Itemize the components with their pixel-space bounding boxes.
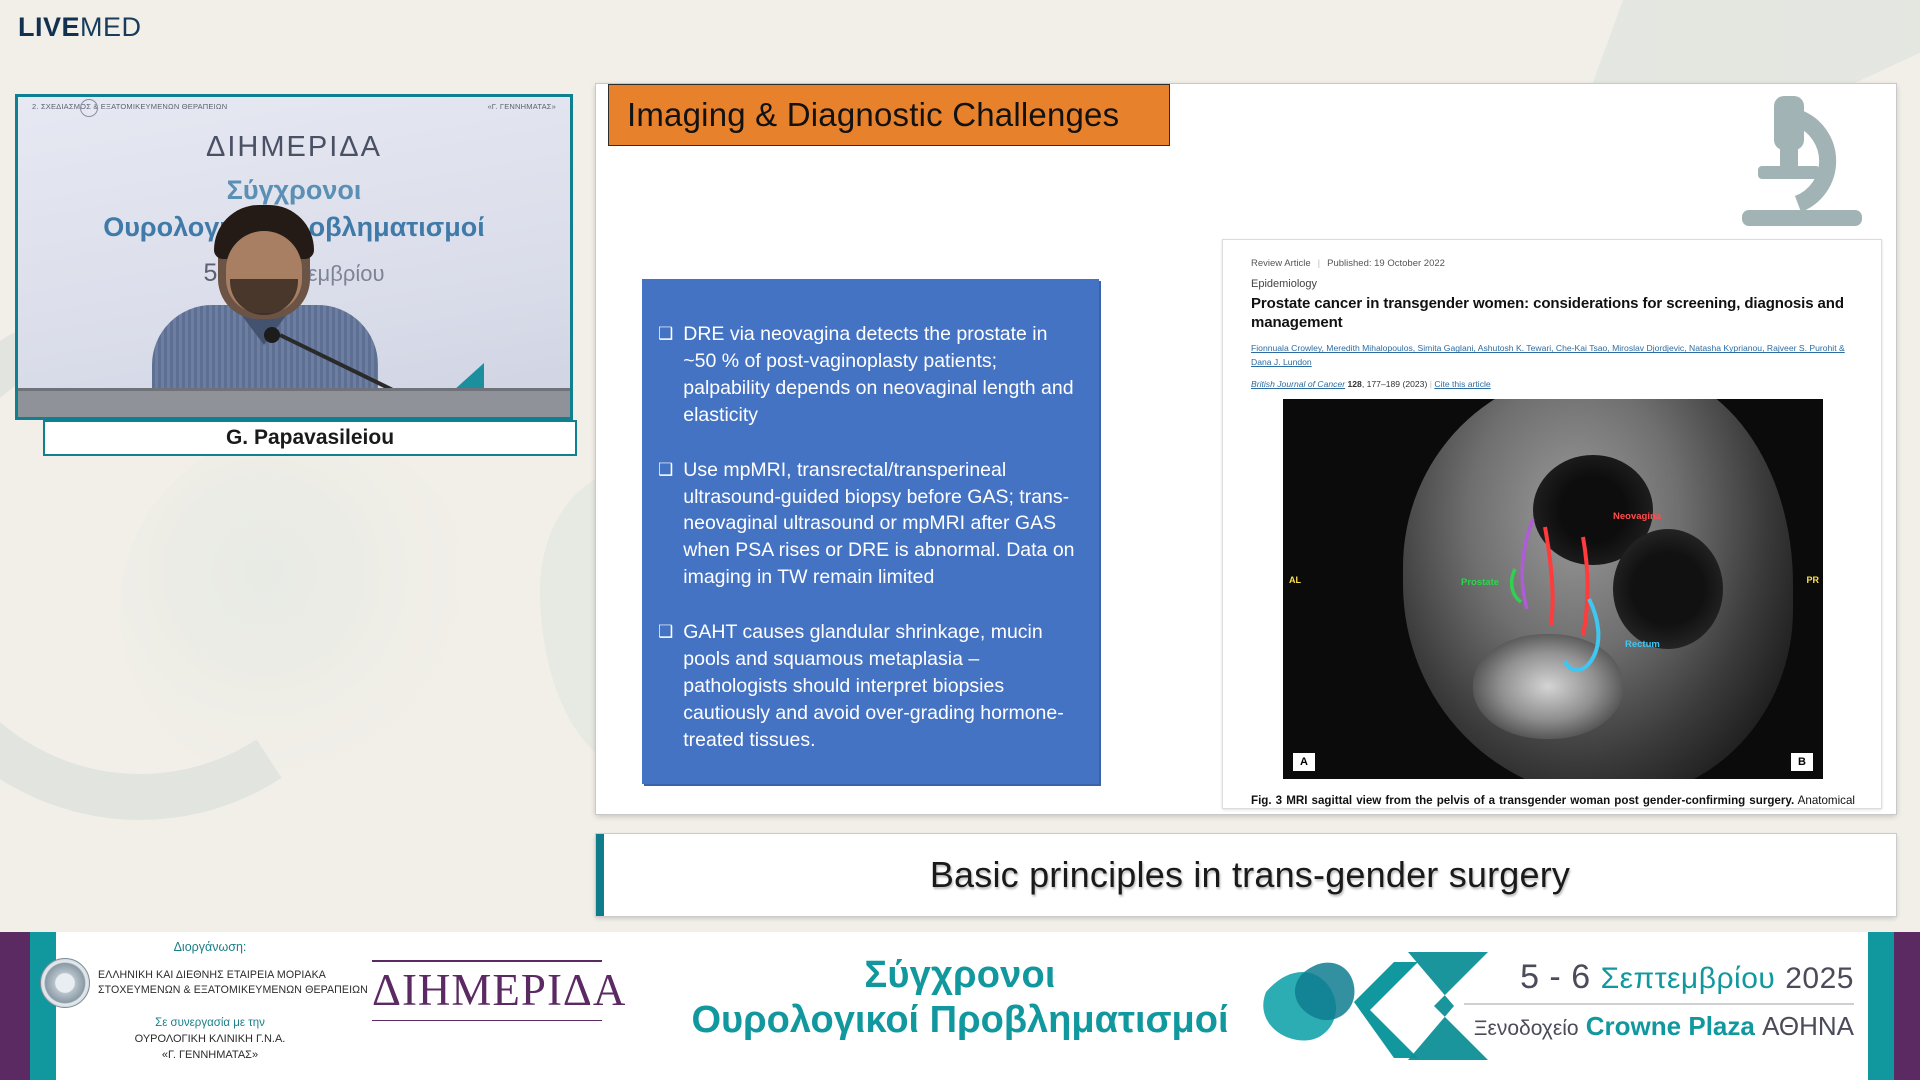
figure-caption: Fig. 3 MRI sagittal view from the pelvis… <box>1251 793 1855 809</box>
speaker-name-label: G. Papavasileiou <box>43 420 577 456</box>
kicker-divider: | <box>1318 258 1320 269</box>
mri-label-prostate: Prostate <box>1461 577 1499 588</box>
figure-caption-bold: Fig. 3 MRI sagittal view from the pelvis… <box>1251 794 1794 807</box>
footer-right-purple-bar <box>1894 932 1920 1080</box>
event-logo-mark <box>1258 940 1488 1072</box>
mri-label-left-edge: AL <box>1289 575 1301 585</box>
session-title-strip: Basic principles in trans-gender surgery <box>596 834 1896 916</box>
speaker-figure <box>114 205 414 417</box>
mri-annotation-overlay <box>1283 399 1823 779</box>
cite-article-link[interactable]: Cite this article <box>1434 379 1490 389</box>
logo-bold-text: LIVE <box>18 12 80 42</box>
speaker-video-panel[interactable]: 2. ΣΧΕΔΙΑΣΜΟΣ & ΕΞΑΤΟΜΙΚΕΥΜΕΝΩΝ ΘΕΡΑΠΕΙΩ… <box>15 94 573 456</box>
footer-organizer-block: Διοργάνωση: ΕΛΛΗΝΙΚΗ ΚΑΙ ΔΙΕΘΝΗΣ ΕΤΑΙΡΕΙ… <box>40 940 380 1064</box>
mri-figure: Neovagina Prostate Rectum AL PR A B <box>1283 399 1823 779</box>
footer-right-teal-bar <box>1868 932 1894 1080</box>
article-title: Prostate cancer in transgender women: co… <box>1251 294 1855 332</box>
article-type: Review Article <box>1251 258 1311 269</box>
clinic-name-line-2: «Γ. ΓΕΝΝΗΜΑΤΑΣ» <box>40 1048 380 1064</box>
organizer-name-line-1: ΕΛΛΗΝΙΚΗ ΚΑΙ ΔΙΕΘΝΗΣ ΕΤΑΙΡΕΙΑ ΜΟΡΙΑΚΑ <box>98 968 368 983</box>
citation-divider: | <box>1430 379 1432 389</box>
checkbox-bullet-icon: ❑ <box>658 457 673 592</box>
organizer-name: ΕΛΛΗΝΙΚΗ ΚΑΙ ΔΙΕΘΝΗΣ ΕΤΑΙΡΕΙΑ ΜΟΡΙΑΚΑ ΣΤ… <box>98 968 368 999</box>
event-date-year: 2025 <box>1785 962 1854 995</box>
projection-line-1: ΔΙΗΜΕΡΙΔΑ <box>18 131 570 164</box>
wordmark-bottom-rule <box>372 1020 602 1022</box>
slide-title-banner: Imaging & Diagnostic Challenges <box>608 84 1170 146</box>
microphone-icon <box>264 327 280 343</box>
author-list[interactable]: Fionnuala Crowley, Meredith Mihalopoulos… <box>1251 343 1845 367</box>
footer-left-purple-bar <box>0 932 30 1080</box>
footer-date-venue: 5 - 6 Σεπτεμβρίου 2025 Ξενοδοχείο Crowne… <box>1464 958 1854 1042</box>
slide-title-text: Imaging & Diagnostic Challenges <box>627 96 1119 134</box>
event-date-month: Σεπτεμβρίου <box>1601 962 1776 995</box>
projection-seal-icon <box>80 99 98 117</box>
footer-event-wordmark: ΔΙΗΜΕΡΙΔΑ <box>372 960 602 1021</box>
session-title-text: Basic principles in trans-gender surgery <box>930 854 1570 896</box>
article-authors: Fionnuala Crowley, Meredith Mihalopoulos… <box>1251 342 1855 370</box>
event-date-line: 5 - 6 Σεπτεμβρίου 2025 <box>1464 958 1854 997</box>
venue-name: Crowne Plaza <box>1586 1011 1755 1041</box>
list-item: ❑ GAHT causes glandular shrinkage, mucin… <box>658 619 1077 754</box>
livemed-logo: LIVEMED <box>18 14 142 41</box>
list-item: ❑ DRE via neovagina detects the prostate… <box>658 321 1077 429</box>
projection-top-line: 2. ΣΧΕΔΙΑΣΜΟΣ & ΕΞΑΤΟΜΙΚΕΥΜΕΝΩΝ ΘΕΡΑΠΕΙΩ… <box>18 102 570 111</box>
organizer-row: ΕΛΛΗΝΙΚΗ ΚΑΙ ΔΙΕΘΝΗΣ ΕΤΑΙΡΕΙΑ ΜΟΡΙΑΚΑ ΣΤ… <box>40 958 380 1008</box>
event-title-line-2: Ουρολογικοί Προβληματισμοί <box>620 999 1300 1042</box>
event-footer: Διοργάνωση: ΕΛΛΗΝΙΚΗ ΚΑΙ ΔΙΕΘΝΗΣ ΕΤΑΙΡΕΙ… <box>0 932 1920 1080</box>
clinic-name-line-1: ΟΥΡΟΛΟΓΙΚΗ ΚΛΙΝΙΚΗ Γ.Ν.Α. <box>40 1032 380 1048</box>
checkbox-bullet-icon: ❑ <box>658 321 673 429</box>
key-points-box: ❑ DRE via neovagina detects the prostate… <box>642 279 1099 784</box>
event-venue-line: Ξενοδοχείο Crowne Plaza ΑΘΗΝΑ <box>1464 1011 1854 1042</box>
date-venue-divider <box>1464 1003 1854 1005</box>
article-section-label: Epidemiology <box>1251 278 1855 290</box>
bullet-text: DRE via neovagina detects the prostate i… <box>683 321 1077 429</box>
logo-light-text: MED <box>80 12 142 42</box>
venue-prefix: Ξενοδοχείο <box>1474 1017 1579 1040</box>
event-title-line-1: Σύγχρονοι <box>620 954 1300 997</box>
organizer-label: Διοργάνωση: <box>40 940 380 954</box>
podium-surface <box>18 391 573 417</box>
list-item: ❑ Use mpMRI, transrectal/transperineal u… <box>658 457 1077 592</box>
footer-event-title: Σύγχρονοι Ουρολογικοί Προβληματισμοί <box>620 954 1300 1042</box>
clinic-name: ΟΥΡΟΛΟΓΙΚΗ ΚΛΙΝΙΚΗ Γ.Ν.Α. «Γ. ΓΕΝΝΗΜΑΤΑΣ… <box>40 1032 380 1064</box>
mri-label-rectum: Rectum <box>1625 639 1660 650</box>
venue-city: ΑΘΗΝΑ <box>1762 1011 1854 1041</box>
deco-arc-soft <box>120 430 480 790</box>
organizer-name-line-2: ΣΤΟΧΕΥΜΕΝΩΝ & ΕΞΑΤΟΜΙΚΕΥΜΕΝΩΝ ΘΕΡΑΠΕΙΩΝ <box>98 983 368 998</box>
projection-line-2: Σύγχρονοι <box>18 175 570 206</box>
projection-top-left: 2. ΣΧΕΔΙΑΣΜΟΣ & ΕΞΑΤΟΜΙΚΕΥΜΕΝΩΝ ΘΕΡΑΠΕΙΩ… <box>32 102 227 111</box>
event-date-days: 5 - 6 <box>1520 958 1591 996</box>
bullet-text: GAHT causes glandular shrinkage, mucin p… <box>683 619 1077 754</box>
organizer-seal-icon <box>40 958 90 1008</box>
mri-panel-b-label: B <box>1791 753 1813 771</box>
presentation-slide[interactable]: Imaging & Diagnostic Challenges ❑ DRE vi… <box>596 84 1896 814</box>
mri-label-neovagina: Neovagina <box>1613 511 1661 522</box>
journal-volume: 128 <box>1348 379 1362 389</box>
bullet-text: Use mpMRI, transrectal/transperineal ult… <box>683 457 1077 592</box>
wordmark-text: ΔΙΗΜΕΡΙΔΑ <box>372 962 602 1020</box>
journal-name[interactable]: British Journal of Cancer <box>1251 379 1345 389</box>
journal-pages: 177–189 (2023) <box>1367 379 1428 389</box>
article-citation: British Journal of Cancer 128, 177–189 (… <box>1251 379 1855 389</box>
checkbox-bullet-icon: ❑ <box>658 619 673 754</box>
journal-article-screenshot: Review Article | Published: 19 October 2… <box>1222 239 1882 809</box>
mri-label-right-edge: PR <box>1806 575 1819 585</box>
projection-top-right: «Γ. ΓΕΝΝΗΜΑΤΑΣ» <box>487 102 556 111</box>
video-frame[interactable]: 2. ΣΧΕΔΙΑΣΜΟΣ & ΕΞΑΤΟΜΙΚΕΥΜΕΝΩΝ ΘΕΡΑΠΕΙΩ… <box>15 94 573 420</box>
microscope-icon <box>1736 92 1868 232</box>
mri-panel-a-label: A <box>1293 753 1315 771</box>
article-kicker: Review Article | Published: 19 October 2… <box>1251 258 1855 269</box>
cooperation-label: Σε συνεργασία με την <box>40 1017 380 1029</box>
article-published-date: Published: 19 October 2022 <box>1327 258 1445 269</box>
